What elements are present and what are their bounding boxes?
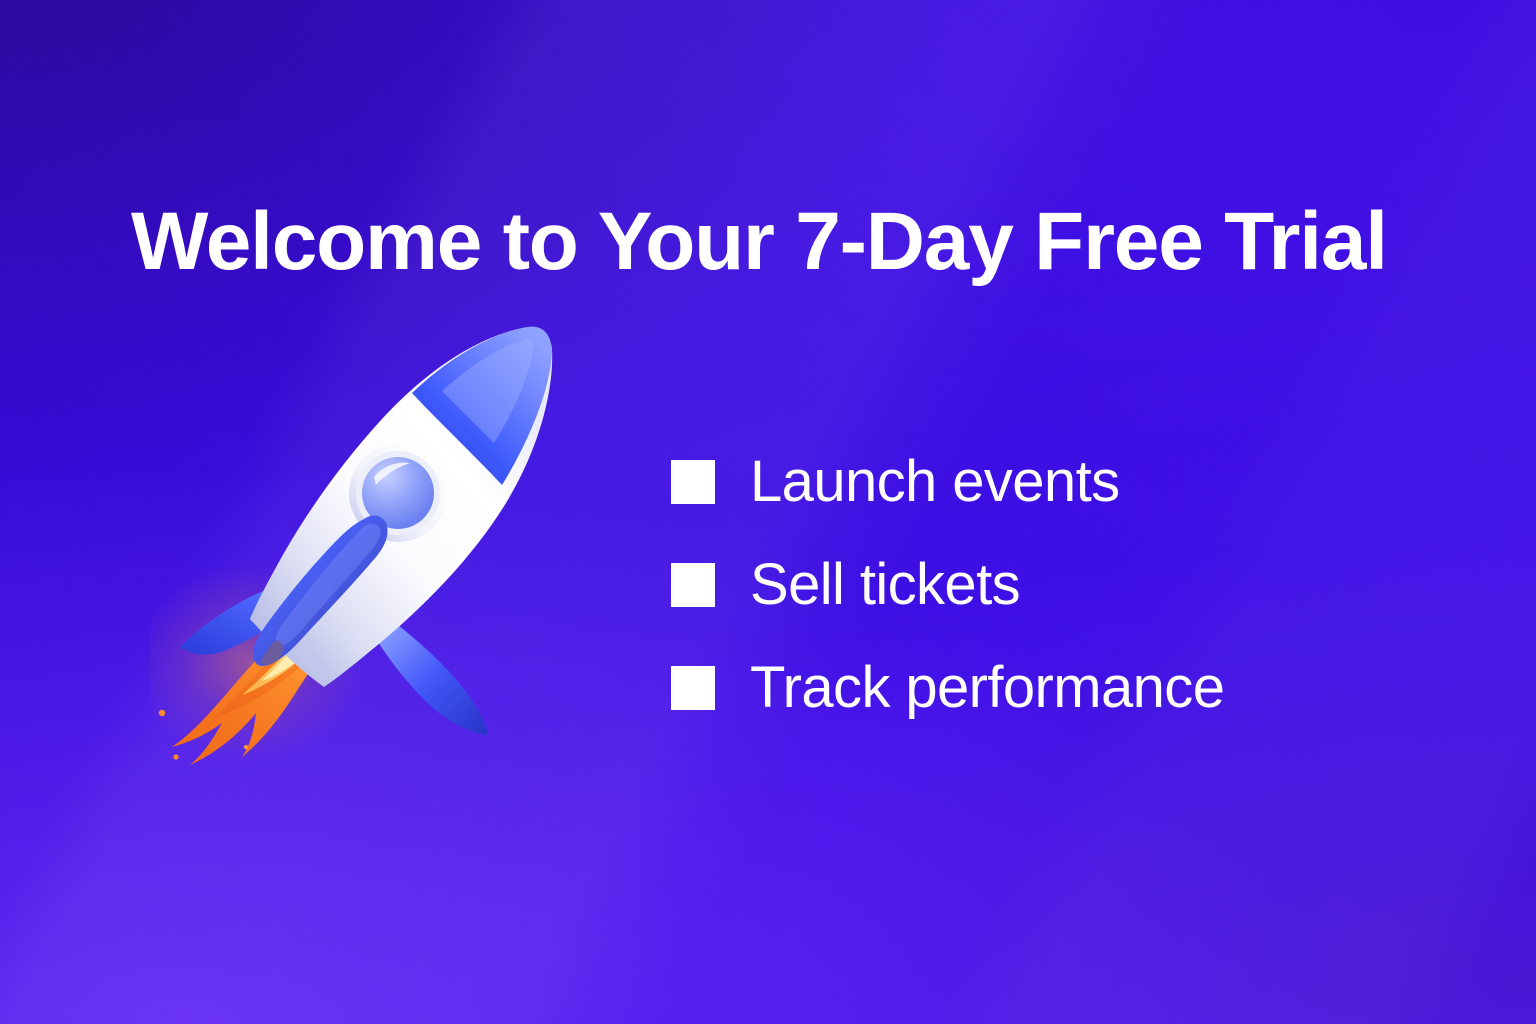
list-item[interactable]: Sell tickets: [671, 533, 1311, 636]
page-title: Welcome to Your 7-Day Free Trial: [131, 194, 1431, 290]
list-item-label: Track performance: [750, 659, 1224, 717]
list-item-label: Launch events: [750, 453, 1119, 511]
trial-welcome-banner: Welcome to Your 7-Day Free Trial: [0, 0, 1536, 1024]
feature-checklist: Launch events Sell tickets Track perform…: [671, 430, 1311, 739]
list-item-label: Sell tickets: [750, 556, 1020, 614]
square-bullet-icon: [671, 666, 715, 710]
rocket-illustration: [150, 295, 580, 765]
list-item[interactable]: Launch events: [671, 430, 1311, 533]
list-item[interactable]: Track performance: [671, 636, 1311, 739]
square-bullet-icon: [671, 563, 715, 607]
square-bullet-icon: [671, 460, 715, 504]
